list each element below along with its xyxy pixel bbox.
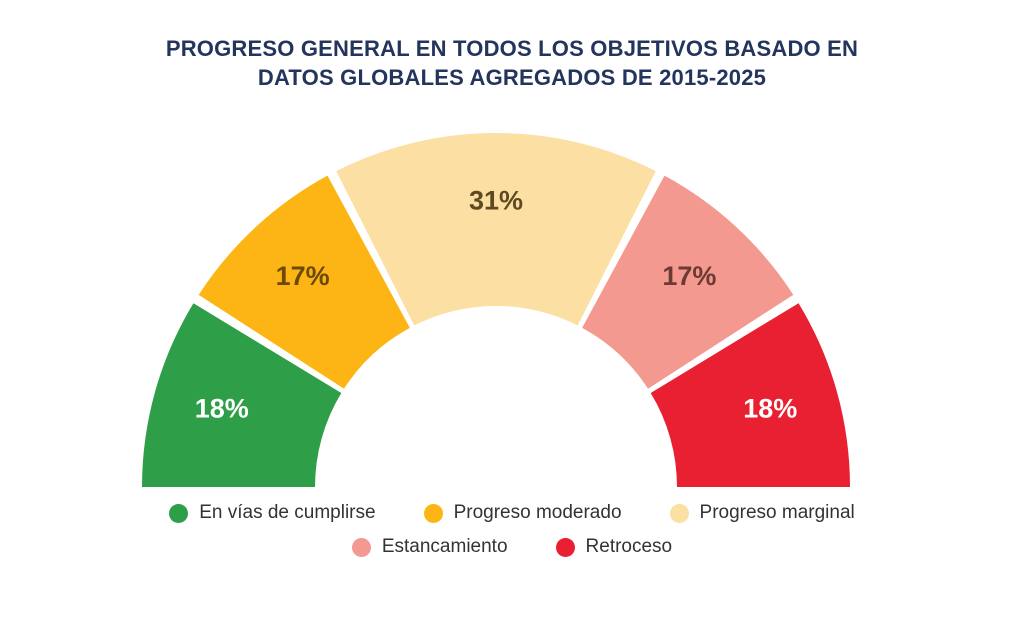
chart-page: PROGRESO GENERAL EN TODOS LOS OBJETIVOS … — [0, 0, 1024, 633]
legend-item[interactable]: Retroceso — [556, 536, 673, 558]
title-line-2: DATOS GLOBALES AGREGADOS DE 2015-2025 — [0, 63, 1024, 92]
legend-swatch-icon — [352, 538, 371, 557]
gauge-segment-label: 31% — [469, 185, 523, 215]
legend-item-label: Progreso marginal — [700, 502, 855, 524]
gauge-svg: 18%17%31%17%18% — [0, 110, 1024, 500]
title-line-1: PROGRESO GENERAL EN TODOS LOS OBJETIVOS … — [0, 34, 1024, 63]
legend-swatch-icon — [670, 504, 689, 523]
legend-item-label: Progreso moderado — [454, 502, 622, 524]
legend-row-primary: En vías de cumplirseProgreso moderadoPro… — [0, 502, 1024, 524]
gauge-segment-label: 17% — [276, 261, 330, 291]
legend-item-label: Estancamiento — [382, 536, 508, 558]
legend-item[interactable]: En vías de cumplirse — [169, 502, 375, 524]
legend-swatch-icon — [424, 504, 443, 523]
legend-swatch-icon — [556, 538, 575, 557]
legend-swatch-icon — [169, 504, 188, 523]
legend-row-secondary: EstancamientoRetroceso — [0, 536, 1024, 558]
legend-item[interactable]: Progreso moderado — [424, 502, 622, 524]
legend-item[interactable]: Progreso marginal — [670, 502, 855, 524]
chart-legend: En vías de cumplirseProgreso moderadoPro… — [0, 502, 1024, 570]
legend-item-label: Retroceso — [586, 536, 673, 558]
legend-item[interactable]: Estancamiento — [352, 536, 508, 558]
legend-item-label: En vías de cumplirse — [199, 502, 375, 524]
gauge-chart: 18%17%31%17%18% — [0, 110, 1024, 500]
page-title: PROGRESO GENERAL EN TODOS LOS OBJETIVOS … — [0, 34, 1024, 92]
gauge-segment-label: 17% — [662, 261, 716, 291]
gauge-segment-label: 18% — [743, 393, 797, 423]
gauge-segment-label: 18% — [195, 393, 249, 423]
